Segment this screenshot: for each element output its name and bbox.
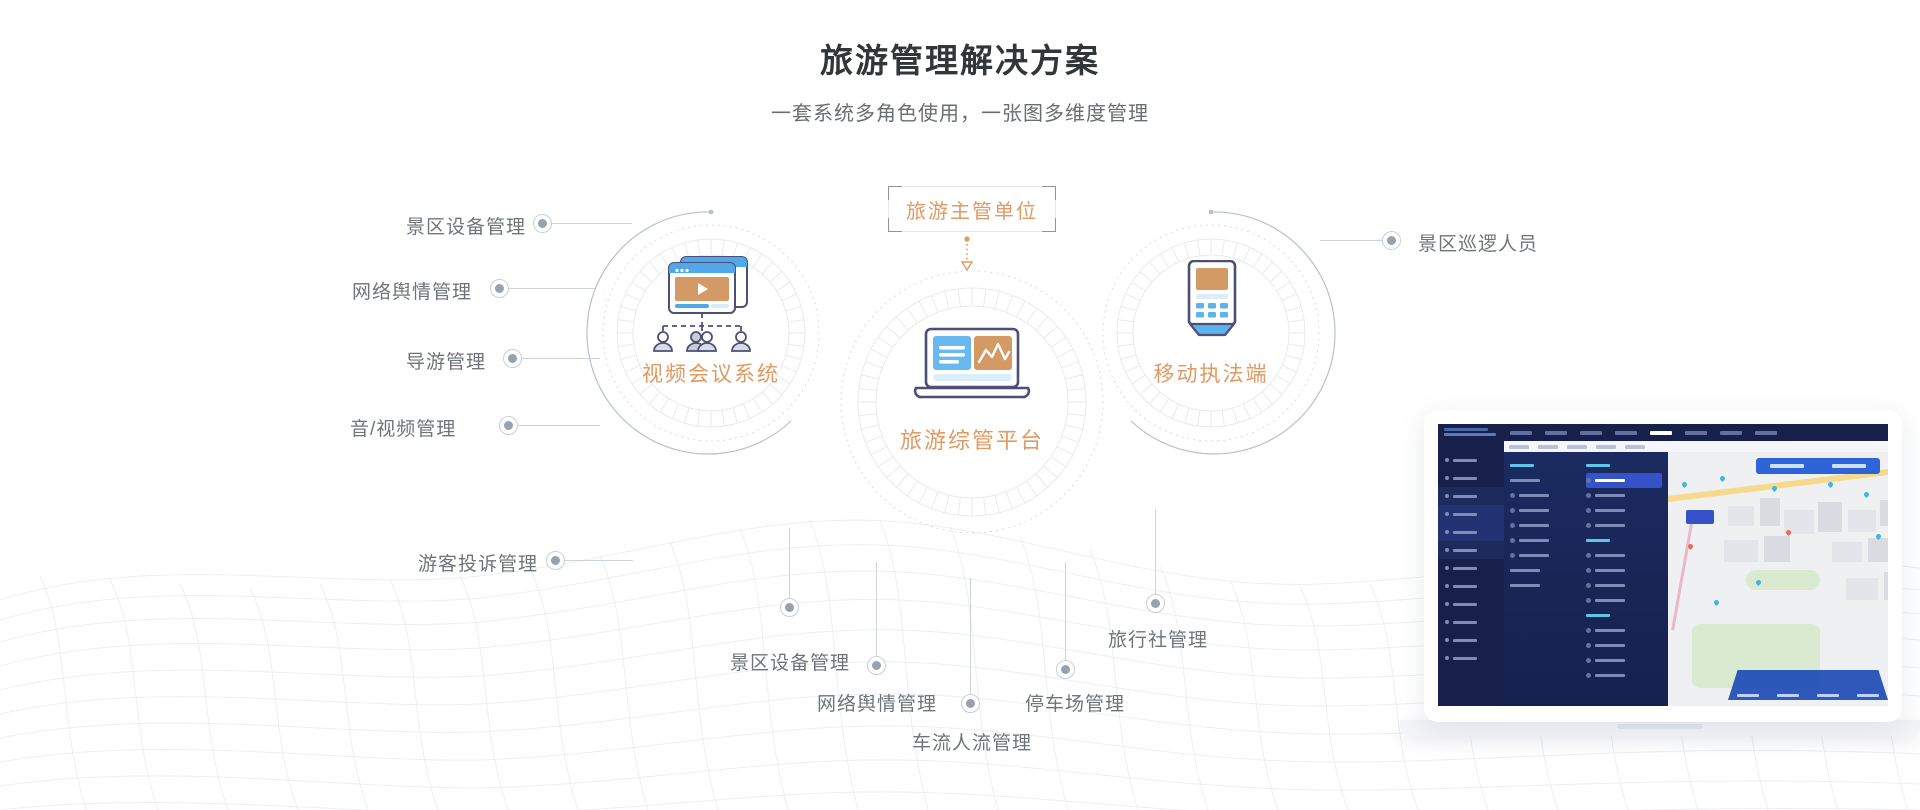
map-pin-6[interactable] bbox=[1827, 481, 1834, 488]
layer-item-1[interactable] bbox=[1586, 488, 1662, 503]
node-label-bottom-0: 景区设备管理 bbox=[730, 648, 850, 675]
map-info-tooltip bbox=[1686, 510, 1714, 524]
layer-item-8[interactable] bbox=[1586, 623, 1662, 638]
node-dot-bottom-1[interactable] bbox=[867, 656, 886, 675]
map-pin-2[interactable] bbox=[1719, 475, 1726, 482]
ring-arc-mobile-enforcement bbox=[1086, 208, 1336, 458]
filter-layer-column[interactable] bbox=[1586, 458, 1662, 683]
map-building-9 bbox=[1832, 542, 1862, 562]
node-label-right-0: 景区巡逻人员 bbox=[1418, 229, 1538, 256]
node-line-left-3 bbox=[518, 425, 600, 426]
node-label-left-1: 网络舆情管理 bbox=[352, 277, 472, 304]
laptop-lid bbox=[1424, 410, 1902, 722]
solution-infographic-page: 旅游管理解决方案 一套系统多角色使用，一张图多维度管理 旅游主管单位 bbox=[0, 0, 1920, 810]
tourism-dashboard-laptop-mockup[interactable] bbox=[1400, 410, 1920, 780]
node-line-bottom-4 bbox=[1155, 510, 1156, 598]
nav-tab-active[interactable] bbox=[1650, 431, 1672, 435]
map-building-2 bbox=[1760, 498, 1780, 526]
breadcrumb-chip-2[interactable] bbox=[1567, 445, 1587, 449]
sidebar-item-9[interactable] bbox=[1438, 613, 1504, 631]
layer-item-2[interactable] bbox=[1586, 503, 1662, 518]
node-label-left-2: 导游管理 bbox=[406, 347, 486, 374]
sidebar-item-11[interactable] bbox=[1438, 649, 1504, 667]
map-building-7 bbox=[1724, 540, 1758, 562]
dashboard-screen[interactable] bbox=[1438, 424, 1888, 706]
layer-item-7[interactable] bbox=[1586, 593, 1662, 608]
node-label-bottom-1: 网络舆情管理 bbox=[817, 689, 937, 716]
node-label-bottom-2: 车流人流管理 bbox=[912, 728, 1032, 755]
layer-group-1-header bbox=[1586, 533, 1662, 548]
node-dot-bottom-4[interactable] bbox=[1146, 594, 1165, 613]
layer-item-4[interactable] bbox=[1586, 548, 1662, 563]
sidebar-item-6[interactable] bbox=[1438, 559, 1504, 577]
map-pin-1[interactable] bbox=[1681, 481, 1688, 488]
node-label-bottom-3: 停车场管理 bbox=[1025, 689, 1125, 716]
breadcrumb-chip-1[interactable] bbox=[1538, 445, 1558, 449]
dashboard-sidebar[interactable] bbox=[1438, 441, 1504, 706]
node-line-left-2 bbox=[522, 358, 600, 359]
sidebar-item-10[interactable] bbox=[1438, 631, 1504, 649]
nav-tab-5[interactable] bbox=[1685, 431, 1707, 435]
nav-tab-7[interactable] bbox=[1755, 431, 1777, 435]
filter-tree-row-3[interactable] bbox=[1510, 518, 1580, 533]
map-building-5 bbox=[1848, 510, 1876, 532]
filter-tree-row-2[interactable] bbox=[1510, 503, 1580, 518]
sidebar-item-2[interactable] bbox=[1438, 487, 1504, 505]
sidebar-item-7[interactable] bbox=[1438, 577, 1504, 595]
node-label-left-0: 景区设备管理 bbox=[406, 212, 526, 239]
nav-tab-1[interactable] bbox=[1545, 431, 1567, 435]
node-line-left-1 bbox=[509, 288, 595, 289]
layer-group-0-header bbox=[1586, 458, 1662, 473]
nav-tab-3[interactable] bbox=[1615, 431, 1637, 435]
map-building-11 bbox=[1846, 578, 1878, 600]
ring-arc-video-conference bbox=[586, 208, 836, 458]
page-subtitle: 一套系统多角色使用，一张图多维度管理 bbox=[0, 100, 1920, 128]
node-dot-bottom-3[interactable] bbox=[1056, 660, 1075, 679]
node-line-right-0 bbox=[1320, 240, 1388, 241]
sidebar-item-1[interactable] bbox=[1438, 469, 1504, 487]
filter-tree-row-4[interactable] bbox=[1510, 533, 1580, 548]
nav-tab-2[interactable] bbox=[1580, 431, 1602, 435]
filter-tree-row-1[interactable] bbox=[1510, 488, 1580, 503]
layer-item-11[interactable] bbox=[1586, 668, 1662, 683]
map-building-4 bbox=[1818, 502, 1842, 532]
page-header: 旅游管理解决方案 一套系统多角色使用，一张图多维度管理 bbox=[0, 38, 1920, 128]
layer-item-3[interactable] bbox=[1586, 518, 1662, 533]
breadcrumb-chip-4[interactable] bbox=[1625, 445, 1645, 449]
node-line-left-4 bbox=[565, 560, 633, 561]
node-dot-left-3[interactable] bbox=[499, 416, 518, 435]
node-dot-left-1[interactable] bbox=[490, 279, 509, 298]
layer-group-2-header bbox=[1586, 608, 1662, 623]
filter-tree-row-0[interactable] bbox=[1510, 473, 1580, 488]
node-label-left-4: 游客投诉管理 bbox=[418, 549, 538, 576]
sidebar-item-8[interactable] bbox=[1438, 595, 1504, 613]
sidebar-item-3[interactable] bbox=[1438, 505, 1504, 523]
page-title: 旅游管理解决方案 bbox=[0, 38, 1920, 84]
breadcrumb-chip-0[interactable] bbox=[1509, 445, 1529, 449]
map-pin-11[interactable] bbox=[1713, 599, 1720, 606]
map-building-12 bbox=[1884, 572, 1888, 600]
sidebar-item-0[interactable] bbox=[1438, 451, 1504, 469]
filter-tree-row-5[interactable] bbox=[1510, 548, 1580, 563]
authority-box-label: 旅游主管单位 bbox=[888, 186, 1056, 232]
dashboard-topbar bbox=[1438, 424, 1888, 441]
dashboard-nav-tabs[interactable] bbox=[1510, 431, 1777, 435]
dotted-down-arrow-icon bbox=[960, 236, 974, 272]
dashboard-filter-panel[interactable] bbox=[1504, 452, 1668, 706]
nav-tab-0[interactable] bbox=[1510, 431, 1532, 435]
breadcrumb-chip-3[interactable] bbox=[1596, 445, 1616, 449]
node-dot-right-0[interactable] bbox=[1382, 231, 1401, 250]
sidebar-item-4[interactable] bbox=[1438, 523, 1504, 541]
map-pin-7[interactable] bbox=[1863, 491, 1870, 498]
filter-tree-row-6[interactable] bbox=[1510, 563, 1580, 578]
ring-label-tourism-platform: 旅游综管平台 bbox=[838, 423, 1106, 455]
nav-tab-6[interactable] bbox=[1720, 431, 1742, 435]
ring-tourism-platform[interactable]: 旅游综管平台 bbox=[838, 268, 1106, 536]
layer-item-9[interactable] bbox=[1586, 638, 1662, 653]
node-line-bottom-0 bbox=[789, 528, 790, 600]
map-building-8 bbox=[1764, 536, 1790, 562]
map-building-1 bbox=[1728, 506, 1754, 526]
sidebar-item-5[interactable] bbox=[1438, 541, 1504, 559]
node-line-bottom-1 bbox=[876, 562, 877, 658]
node-line-bottom-3 bbox=[1065, 562, 1066, 662]
map-quick-action-bar[interactable] bbox=[1728, 670, 1888, 700]
node-label-left-3: 音/视频管理 bbox=[350, 414, 456, 441]
layer-item-6[interactable] bbox=[1586, 578, 1662, 593]
dashboard-map-canvas[interactable] bbox=[1668, 452, 1888, 706]
node-label-bottom-4: 旅行社管理 bbox=[1108, 625, 1208, 652]
node-dot-bottom-2[interactable] bbox=[961, 694, 980, 713]
dashboard-logo bbox=[1438, 428, 1504, 438]
filter-tree-column[interactable] bbox=[1510, 458, 1580, 593]
filter-tree-row-7[interactable] bbox=[1510, 578, 1580, 593]
layer-item-10[interactable] bbox=[1586, 653, 1662, 668]
filter-tree-header bbox=[1510, 458, 1580, 473]
map-building-10 bbox=[1868, 538, 1888, 562]
laptop-dashboard-icon bbox=[908, 326, 1036, 410]
layer-item-0[interactable] bbox=[1586, 473, 1662, 488]
map-view-controls[interactable] bbox=[1756, 458, 1880, 474]
node-line-left-0 bbox=[552, 223, 632, 224]
node-dot-bottom-0[interactable] bbox=[780, 598, 799, 617]
node-dot-left-0[interactable] bbox=[533, 214, 552, 233]
layer-item-5[interactable] bbox=[1586, 563, 1662, 578]
dashboard-breadcrumb-tabs[interactable] bbox=[1504, 441, 1888, 452]
map-building-6 bbox=[1880, 500, 1888, 526]
laptop-base bbox=[1400, 720, 1920, 736]
node-dot-left-4[interactable] bbox=[546, 551, 565, 570]
map-metro-line bbox=[1671, 512, 1695, 631]
node-line-bottom-2 bbox=[970, 578, 971, 696]
authority-box[interactable]: 旅游主管单位 bbox=[888, 186, 1056, 232]
node-dot-left-2[interactable] bbox=[503, 349, 522, 368]
